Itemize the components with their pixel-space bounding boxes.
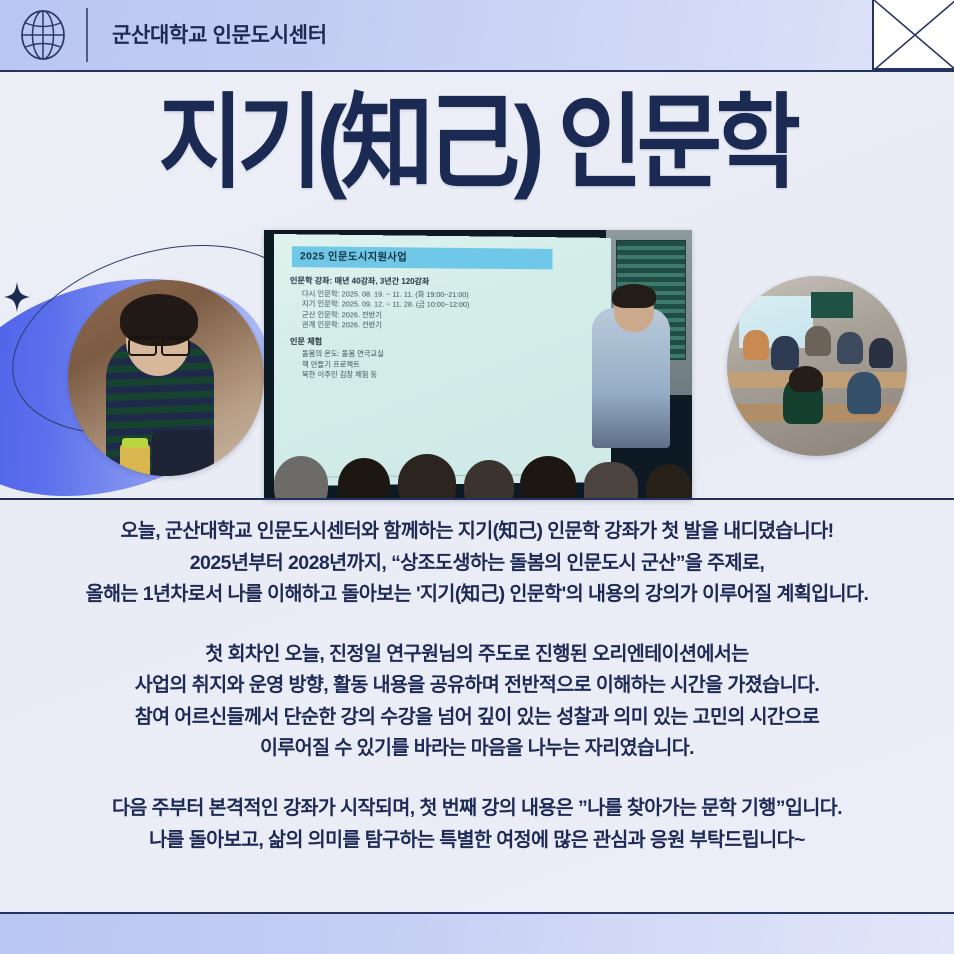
slide-sub-item: 북한 이주민 김장 체험 등 (302, 370, 602, 381)
text-line: 나를 돌아보고, 삶의 의미를 탐구하는 특별한 여정에 많은 관심과 응원 부… (0, 825, 954, 857)
photo-center-audience (264, 414, 692, 500)
photo-left-bag (152, 430, 214, 476)
photo-center-speaker-hair (612, 284, 656, 308)
slide-bullet-heading: 인문 체험 (290, 336, 602, 348)
x-box-icon (872, 0, 954, 70)
title-zone: 지기(知己) 인문학 (0, 72, 954, 212)
photo-left-bottle-cap (122, 438, 148, 448)
slide-sub-item: 관계 인문학: 2026. 전반기 (302, 320, 602, 331)
photo-left-glasses (128, 336, 190, 350)
slide-heading: 2025 인문도시지원사업 (292, 246, 553, 269)
photo-center: 2025 인문도시지원사업 인문학 강좌: 매년 40강좌, 3년간 120강좌… (264, 230, 692, 500)
section-divider (0, 498, 954, 500)
text-line: 다음 주부터 본격적인 강좌가 시작되며, 첫 번째 강의 내용은 ”나를 찾아… (0, 793, 954, 825)
header-bar: 군산대학교 인문도시센터 (0, 0, 954, 72)
paragraph: 다음 주부터 본격적인 강좌가 시작되며, 첫 번째 강의 내용은 ”나를 찾아… (0, 793, 954, 856)
slide-sub-item: 지기 인문학: 2025. 09. 12. ~ 11. 28. (금 10:00… (302, 299, 602, 311)
photo-left-bottle (120, 444, 150, 476)
text-line: 2025년부터 2028년까지, “상조도생하는 돌봄의 인문도시 군산”을 주… (0, 548, 954, 580)
page-title: 지기(知己) 인문학 (159, 91, 795, 194)
paragraph: 오늘, 군산대학교 인문도시센터와 함께하는 지기(知己) 인문학 강좌가 첫 … (0, 516, 954, 611)
slide-sub-item: 책 만들기 프로젝트 (302, 360, 602, 370)
text-line: 사업의 취지와 운영 방향, 활동 내용을 공유하며 전반적으로 이해하는 시간… (0, 670, 954, 702)
body-text: 오늘, 군산대학교 인문도시센터와 함께하는 지기(知己) 인문학 강좌가 첫 … (0, 516, 954, 856)
text-line: 올해는 1년차로서 나를 이해하고 돌아보는 '지기(知己) 인문학'의 내용의… (0, 579, 954, 611)
globe-icon (0, 0, 86, 71)
slide-bullet-heading: 인문학 강좌: 매년 40강좌, 3년간 120강좌 (290, 275, 602, 289)
text-line: 참여 어르신들께서 단순한 강의 수강을 넘어 깊이 있는 성찰과 의미 있는 … (0, 702, 954, 734)
text-line: 이루어질 수 있기를 바라는 마음을 나누는 자리였습니다. (0, 733, 954, 765)
photo-right-board (811, 292, 853, 318)
slide-sub-item: 돌봄의 온도: 돌봄 연극교실 (302, 349, 602, 359)
photo-right (727, 276, 907, 456)
poster-card: 군산대학교 인문도시센터 지기(知己) 인문학 202 (0, 0, 954, 954)
photo-left (68, 280, 264, 476)
diamond-sparkle-icon (4, 282, 30, 312)
footer-band (0, 912, 954, 954)
text-line: 오늘, 군산대학교 인문도시센터와 함께하는 지기(知己) 인문학 강좌가 첫 … (0, 516, 954, 548)
organization-title: 군산대학교 인문도시센터 (112, 25, 327, 46)
text-line: 첫 회차인 오늘, 진정일 연구원님의 주도로 진행된 오리엔테이션에서는 (0, 639, 954, 671)
paragraph: 첫 회차인 오늘, 진정일 연구원님의 주도로 진행된 오리엔테이션에서는 사업… (0, 639, 954, 765)
header-divider (86, 8, 88, 62)
